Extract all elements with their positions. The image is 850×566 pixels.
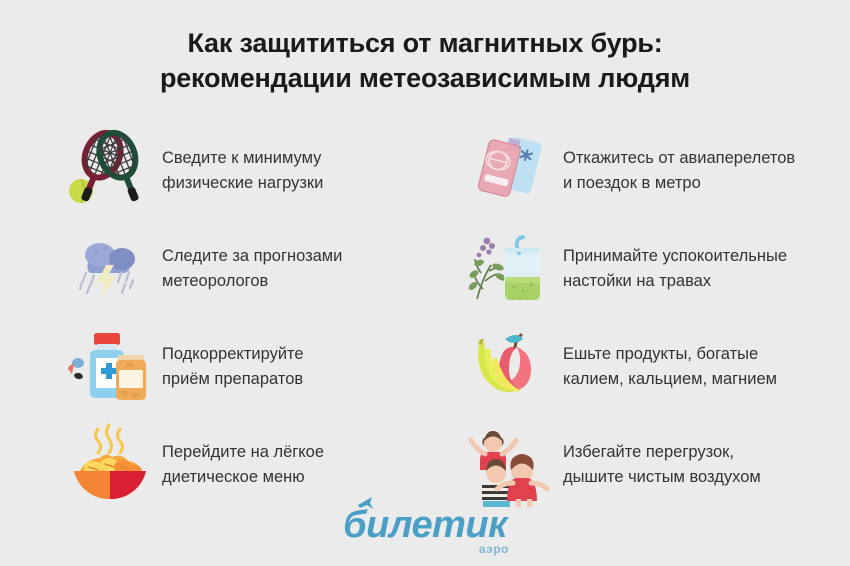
- tip-line-1: Подкорректируйте: [162, 345, 304, 363]
- tip-line-1: Принимайте успокоительные: [563, 247, 787, 265]
- tip-item: Избегайте перегрузок, дышите чистым возд…: [463, 416, 850, 514]
- tip-item: Принимайте успокоительные настойки на тр…: [463, 220, 850, 318]
- brand-logo[interactable]: билетик аэро: [0, 505, 850, 545]
- passport-boarding-pass-icon: [463, 126, 559, 216]
- infographic-page: Как защититься от магнитных бурь: рекоме…: [0, 0, 850, 566]
- page-title: Как защититься от магнитных бурь: рекоме…: [0, 26, 850, 96]
- tip-text: Избегайте перегрузок, дышите чистым возд…: [559, 440, 761, 490]
- children-playing-icon: [463, 420, 559, 510]
- tip-line-2: диетическое меню: [162, 465, 324, 490]
- medicine-bottles-icon: [62, 322, 158, 412]
- tip-item: Сведите к минимуму физические нагрузки: [62, 122, 425, 220]
- tips-column-left: Сведите к минимуму физические нагрузки: [0, 122, 425, 514]
- tip-line-2: физические нагрузки: [162, 171, 323, 196]
- tip-line-1: Следите за прогнозами: [162, 247, 342, 265]
- logo-inner: билетик аэро: [343, 505, 507, 545]
- tip-text: Откажитесь от авиаперелетов и поездок в …: [559, 146, 795, 196]
- tip-line-1: Сведите к минимуму: [162, 149, 321, 167]
- tennis-rackets-icon: [62, 126, 158, 216]
- herbal-drink-jar-icon: [463, 224, 559, 314]
- tip-text: Принимайте успокоительные настойки на тр…: [559, 244, 787, 294]
- title-line-2: рекомендации метеозависимым людям: [0, 61, 850, 96]
- tip-line-1: Откажитесь от авиаперелетов: [563, 149, 795, 167]
- tip-text: Перейдите на лёгкое диетическое меню: [158, 440, 324, 490]
- tip-line-1: Избегайте перегрузок,: [563, 443, 734, 461]
- tip-line-1: Ешьте продукты, богатые: [563, 345, 758, 363]
- logo-subtext: аэро: [479, 542, 509, 556]
- tip-line-2: настойки на травах: [563, 269, 787, 294]
- tip-text: Следите за прогнозами метеорологов: [158, 244, 342, 294]
- banana-apple-icon: [463, 322, 559, 412]
- tips-columns: Сведите к минимуму физические нагрузки: [0, 122, 850, 514]
- title-line-1: Как защититься от магнитных бурь:: [0, 26, 850, 61]
- tip-item: Следите за прогнозами метеорологов: [62, 220, 425, 318]
- tip-line-2: калием, кальцием, магнием: [563, 367, 777, 392]
- tip-item: Подкорректируйте приём препаратов: [62, 318, 425, 416]
- tip-text: Ешьте продукты, богатые калием, кальцием…: [559, 342, 777, 392]
- tip-line-2: и поездок в метро: [563, 171, 795, 196]
- tip-item: Откажитесь от авиаперелетов и поездок в …: [463, 122, 850, 220]
- rain-cloud-lightning-icon: [62, 224, 158, 314]
- airplane-icon: [357, 496, 375, 515]
- tip-line-2: приём препаратов: [162, 367, 304, 392]
- tip-line-2: дышите чистым воздухом: [563, 465, 761, 490]
- tips-column-right: Откажитесь от авиаперелетов и поездок в …: [425, 122, 850, 514]
- tip-text: Подкорректируйте приём препаратов: [158, 342, 304, 392]
- tip-item: Ешьте продукты, богатые калием, кальцием…: [463, 318, 850, 416]
- tip-text: Сведите к минимуму физические нагрузки: [158, 146, 323, 196]
- tip-line-2: метеорологов: [162, 269, 342, 294]
- tip-line-1: Перейдите на лёгкое: [162, 443, 324, 461]
- hot-food-bowl-icon: [62, 420, 158, 510]
